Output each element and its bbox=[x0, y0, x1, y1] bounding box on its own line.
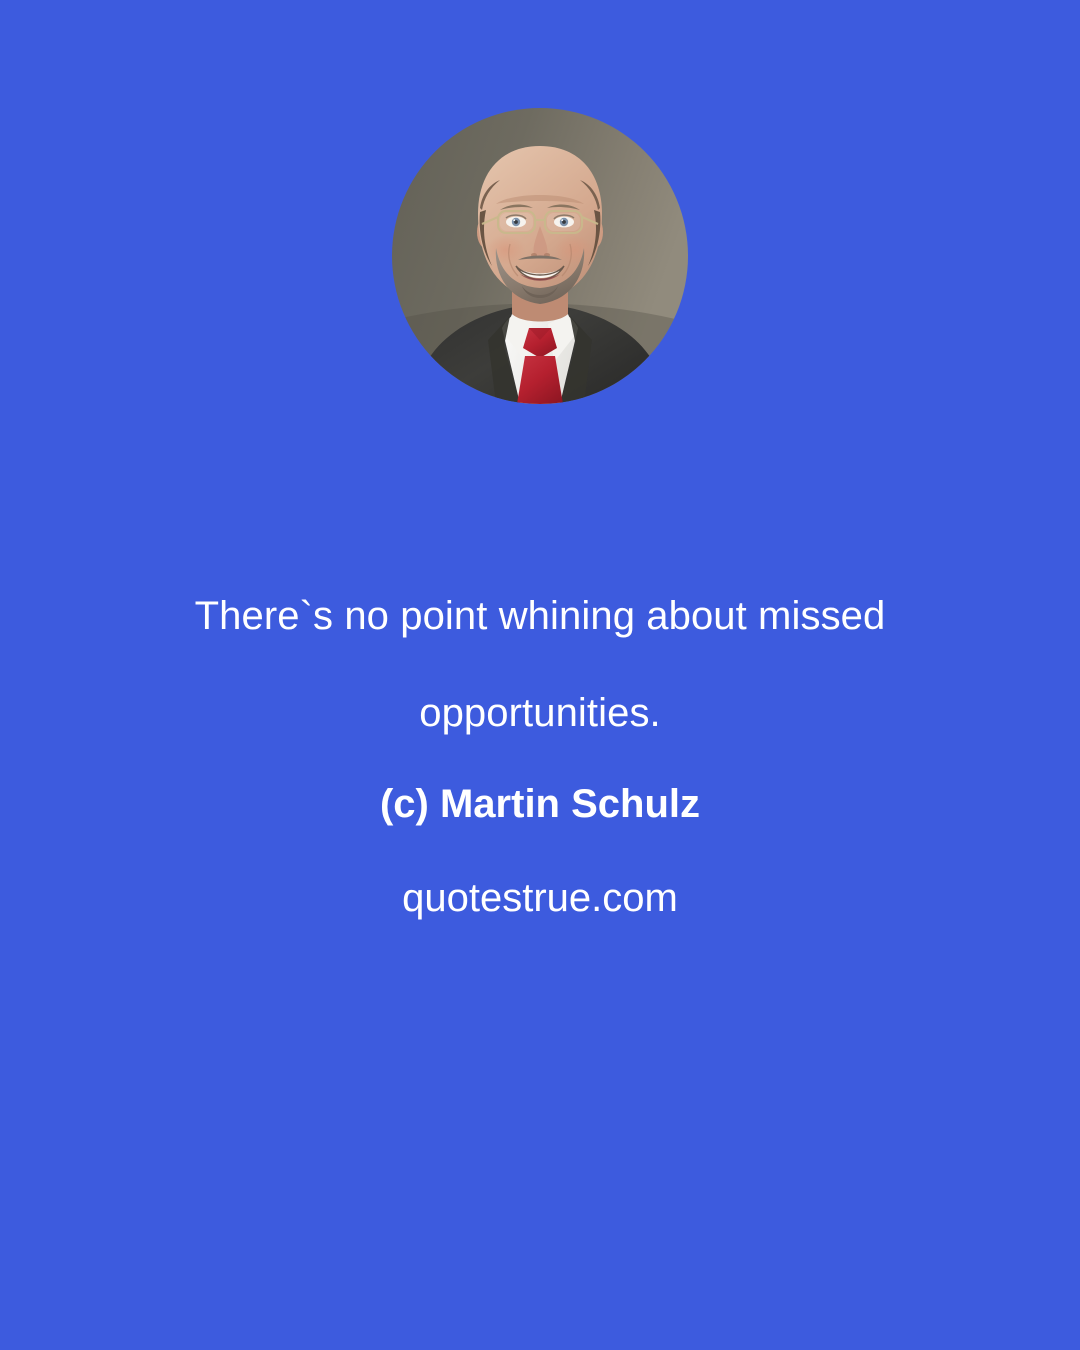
quote-line-2: opportunities. bbox=[0, 665, 1080, 762]
quote-author: (c) Martin Schulz bbox=[0, 779, 1080, 829]
source-website: quotestrue.com bbox=[0, 873, 1080, 923]
quote-card: There`s no point whining about missed op… bbox=[0, 0, 1080, 1350]
avatar bbox=[392, 108, 688, 404]
quote-line-1: There`s no point whining about missed bbox=[0, 568, 1080, 665]
quote-text: There`s no point whining about missed op… bbox=[0, 568, 1080, 762]
portrait-photo bbox=[392, 108, 688, 404]
